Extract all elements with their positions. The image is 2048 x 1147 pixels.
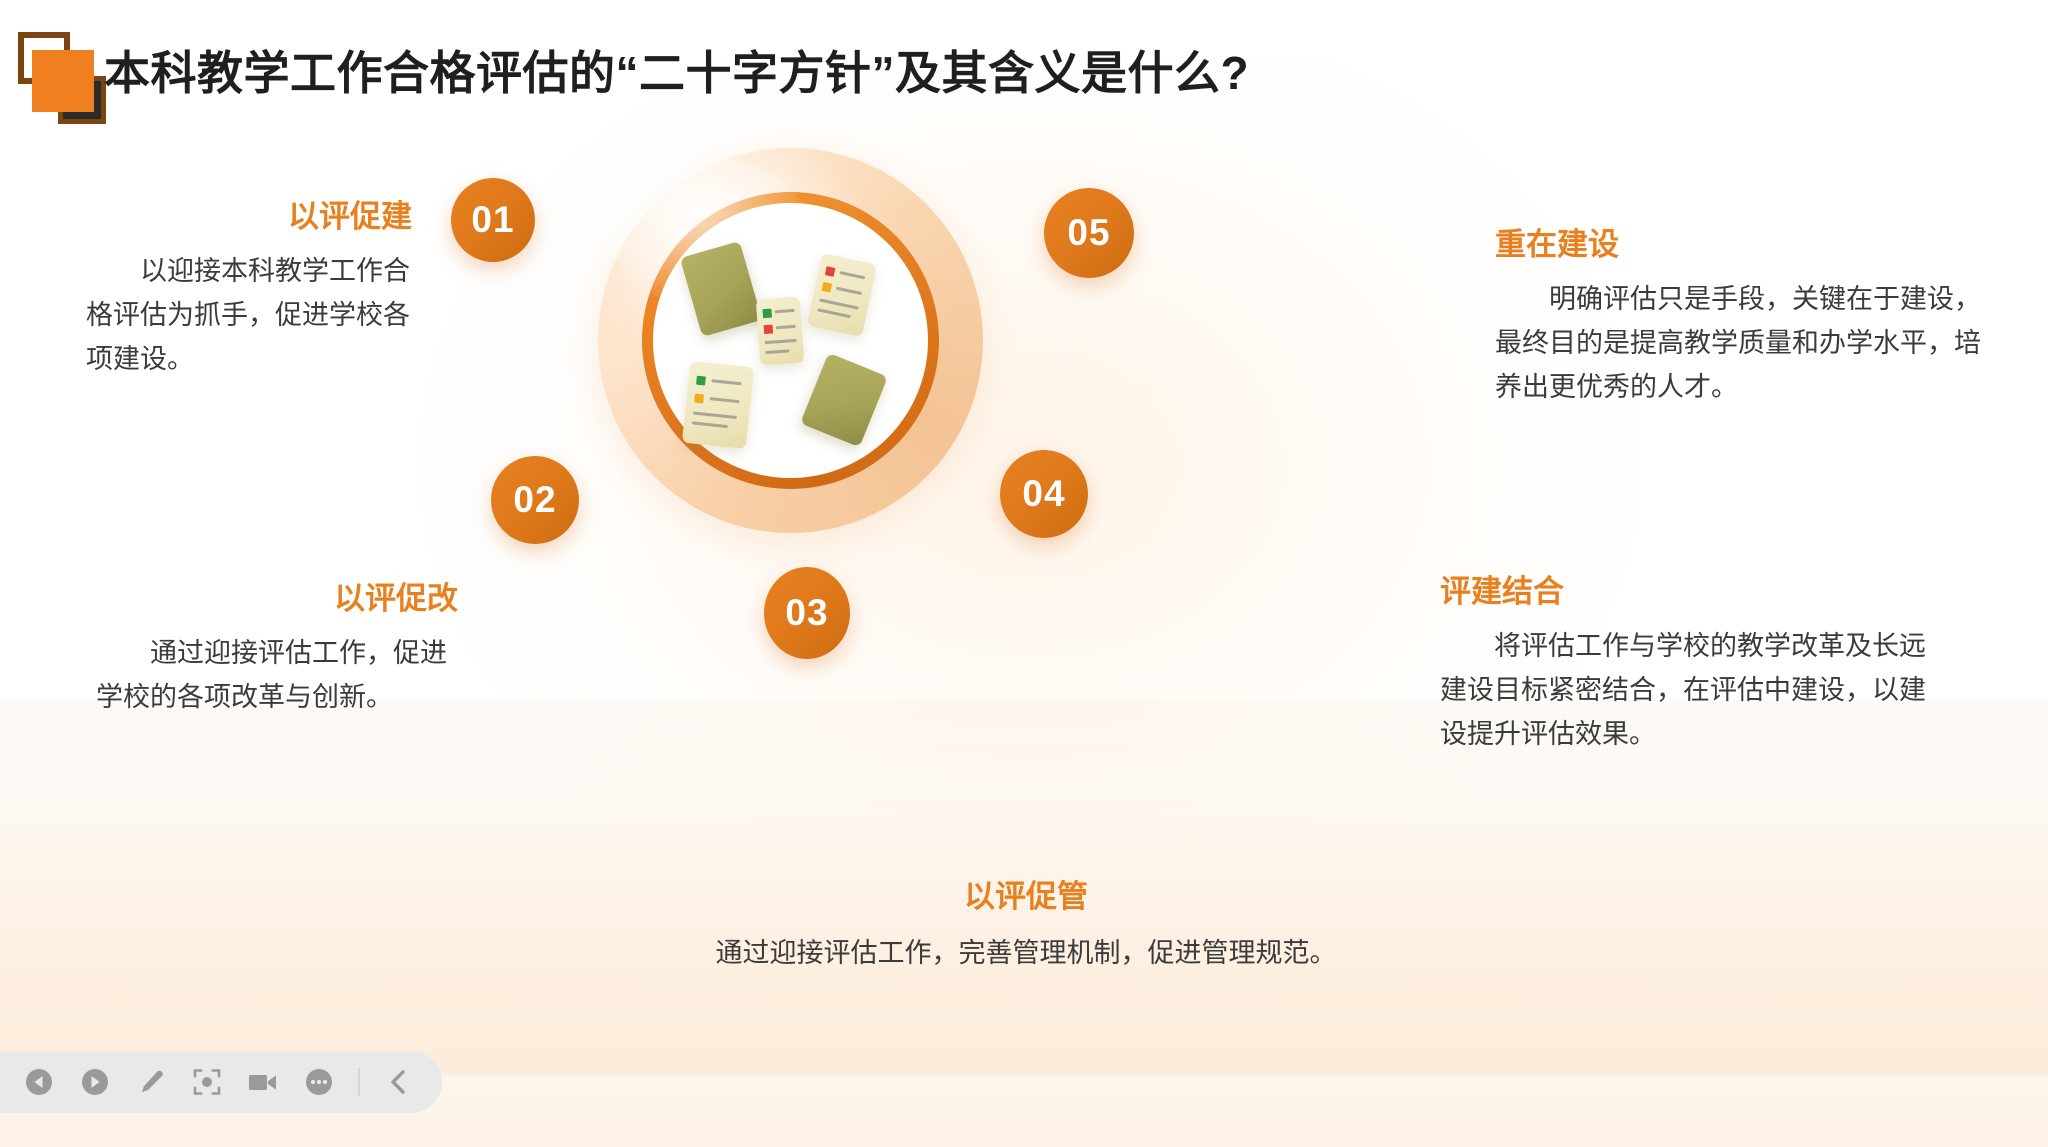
content-block-03: 以评促管 通过迎接评估工作，完善管理机制，促进管理规范。 xyxy=(496,880,1556,976)
doc-chip-icon xyxy=(764,325,774,335)
badge-number: 05 xyxy=(1067,212,1110,254)
content-block-04: 评建结合 将评估工作与学校的教学改革及长远建设目标紧密结合，在评估中建设，以建设… xyxy=(1440,575,1940,756)
collapse-toolbar-button[interactable] xyxy=(382,1065,416,1099)
doc-text-line xyxy=(692,421,728,428)
badge-number: 01 xyxy=(471,199,514,241)
badge-number: 04 xyxy=(1022,473,1065,515)
doc-text-line xyxy=(709,397,739,403)
doc-text-line xyxy=(775,309,795,313)
doc-text-line xyxy=(765,349,789,354)
step-badge-01[interactable]: 01 xyxy=(451,178,535,262)
block-body: 通过迎接评估工作，完善管理机制，促进管理规范。 xyxy=(496,932,1556,976)
block-body: 将评估工作与学校的教学改革及长远建设目标紧密结合，在评估中建设，以建设提升评估效… xyxy=(1440,625,1940,756)
logo-square-orange xyxy=(32,50,94,112)
presenter-toolbar xyxy=(0,1051,442,1113)
next-slide-icon xyxy=(80,1067,110,1097)
record-video-button[interactable] xyxy=(246,1065,280,1099)
block-title: 重在建设 xyxy=(1495,228,1995,262)
doc-text-line xyxy=(765,339,797,344)
doc-text-line xyxy=(693,411,737,419)
doc-chip-icon xyxy=(694,394,704,404)
block-title: 以评促管 xyxy=(496,880,1556,914)
collapse-chevron-icon xyxy=(386,1068,412,1096)
pen-button[interactable] xyxy=(134,1065,168,1099)
three-squares-logo-icon xyxy=(10,28,110,118)
presentation-slide: 本科教学工作合格评估的“二十字方针”及其含义是什么? xyxy=(0,0,2048,1147)
block-body: 以迎接本科教学工作合格评估为抓手，促进学校各项建设。 xyxy=(86,250,416,381)
video-camera-icon xyxy=(247,1067,279,1097)
more-options-icon xyxy=(304,1067,334,1097)
content-block-02: 以评促改 通过迎接评估工作，促进学校的各项改革与创新。 xyxy=(96,582,468,720)
next-slide-button[interactable] xyxy=(78,1065,112,1099)
block-title: 以评促建 xyxy=(86,200,416,234)
doc-chip-icon xyxy=(696,376,706,386)
pen-icon xyxy=(136,1067,166,1097)
badge-number: 02 xyxy=(513,479,556,521)
previous-slide-icon xyxy=(24,1067,54,1097)
toolbar-divider xyxy=(358,1068,360,1096)
badge-number: 03 xyxy=(785,592,828,634)
doc-text-line xyxy=(817,308,851,318)
doc-chip-icon xyxy=(762,309,772,319)
page-title: 本科教学工作合格评估的“二十字方针”及其含义是什么? xyxy=(104,34,1249,106)
step-badge-04[interactable]: 04 xyxy=(1000,450,1088,538)
slide-header: 本科教学工作合格评估的“二十字方针”及其含义是什么? xyxy=(0,0,2048,130)
block-body: 通过迎接评估工作，促进学校的各项改革与创新。 xyxy=(96,632,468,719)
doc-text-line xyxy=(819,298,859,309)
doc-chip-icon xyxy=(825,266,836,277)
previous-slide-button[interactable] xyxy=(22,1065,56,1099)
more-options-button[interactable] xyxy=(302,1065,336,1099)
doc-text-line xyxy=(711,379,741,385)
block-title: 评建结合 xyxy=(1440,575,1940,609)
step-badge-02[interactable]: 02 xyxy=(491,456,579,544)
laser-pointer-icon xyxy=(192,1067,222,1097)
step-badge-03[interactable]: 03 xyxy=(764,567,850,659)
doc-text-line xyxy=(776,325,796,329)
doc-chip-icon xyxy=(821,282,832,293)
documents-in-circle-illustration xyxy=(598,148,983,533)
document-card xyxy=(756,297,804,366)
block-title: 以评促改 xyxy=(96,582,468,616)
content-block-05: 重在建设 明确评估只是手段，关键在于建设，最终目的是提高教学质量和办学水平，培养… xyxy=(1495,228,1995,409)
block-body: 明确评估只是手段，关键在于建设，最终目的是提高教学质量和办学水平，培养出更优秀的… xyxy=(1495,278,1995,409)
step-badge-05[interactable]: 05 xyxy=(1044,188,1134,278)
content-block-01: 以评促建 以迎接本科教学工作合格评估为抓手，促进学校各项建设。 xyxy=(86,200,416,381)
doc-text-line xyxy=(836,287,862,295)
doc-text-line xyxy=(839,271,865,279)
document-card xyxy=(682,361,754,449)
laser-pointer-button[interactable] xyxy=(190,1065,224,1099)
